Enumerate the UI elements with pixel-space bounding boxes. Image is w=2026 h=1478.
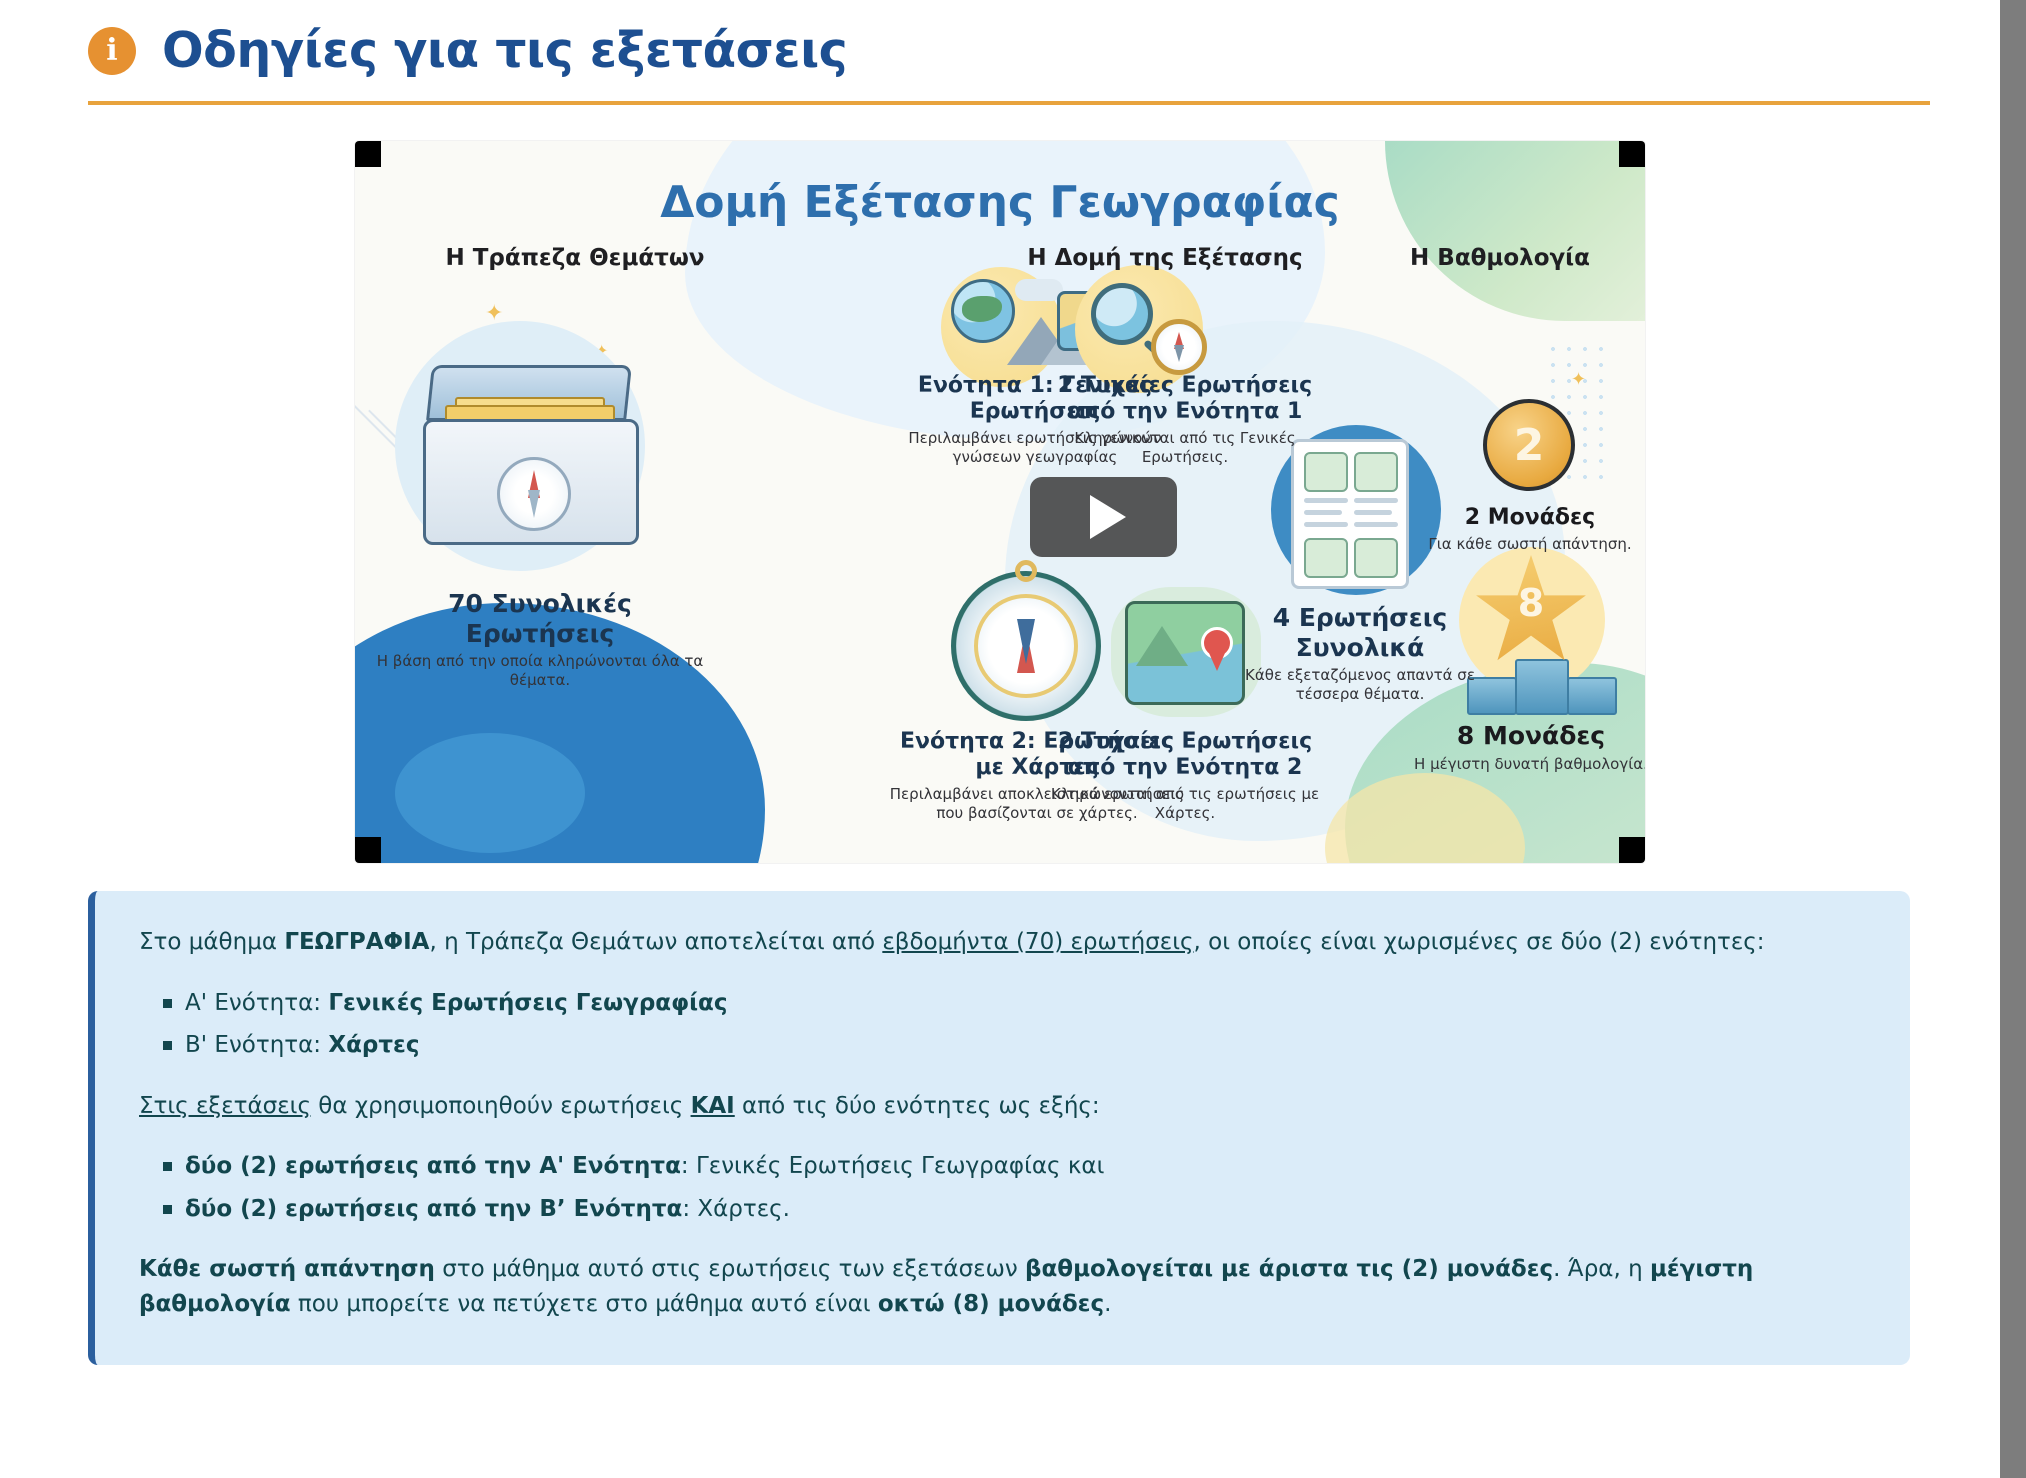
scoring-s3: βαθμολογείται με άριστα τις (2) μονάδες [1025, 1256, 1553, 1282]
decor-blob-blue-small [395, 733, 585, 853]
scrollbar-track[interactable] [2000, 0, 2026, 1478]
page-header: i Οδηγίες για τις εξετάσεις [0, 0, 2000, 93]
scoring-s2: στο μάθημα αυτό στις ερωτήσεις των εξετά… [435, 1256, 1025, 1282]
exam-item-strong: δύο (2) ερωτήσεις από την Α' Ενότητα [185, 1153, 681, 1179]
exam-item-rest: : Χάρτες. [682, 1196, 790, 1222]
cloud-icon [1015, 279, 1063, 301]
star-badge-number: 8 [1518, 581, 1544, 625]
paper-tile-map [1304, 538, 1348, 578]
paper-line [1304, 510, 1342, 515]
scoring-s6: που μπορείτε να πετύχετε στο μάθημα αυτό… [291, 1291, 878, 1317]
decor-blob-teal [1385, 141, 1645, 321]
podium-right [1567, 677, 1617, 715]
block-points-each: 2 Μονάδες Για κάθε σωστή απάντηση. [1415, 505, 1645, 554]
panel-intro-paragraph: Στο μάθημα ΓΕΩΓΡΑΦΙΑ, η Τράπεζα Θεμάτων … [139, 925, 1866, 960]
block-title: 2 Τυχαίες Ερωτήσεις από την Ενότητα 1 [1045, 373, 1325, 425]
infographic-wrapper: ✦ ✦ ✦ Δομή Εξέτασης Γεωγραφίας Η Τράπεζα… [0, 141, 2000, 863]
unit-strong: Χάρτες [328, 1032, 419, 1058]
unit-strong: Γενικές Ερωτήσεις Γεωγραφίας [328, 990, 727, 1016]
podium-icon [1467, 657, 1617, 715]
exams-link[interactable]: Στις εξετάσεις [139, 1093, 311, 1119]
video-corner-mask [355, 141, 381, 167]
block-subtitle: Η μέγιστη δυνατή βαθμολογία. [1411, 755, 1645, 774]
compass-ring [974, 594, 1078, 698]
mountain-icon [1136, 626, 1188, 666]
compass-needle-south [528, 490, 540, 518]
paper-tile-compass [1354, 452, 1398, 492]
video-corner-mask [1619, 837, 1645, 863]
coin-badge-icon: 2 [1483, 399, 1575, 491]
infographic-title: Δομή Εξέτασης Γεωγραφίας [355, 177, 1645, 228]
block-title: 2 Τυχαίες Ερωτήσεις από την Ενότητα 2 [1045, 729, 1325, 781]
list-item: δύο (2) ερωτήσεις από την Α' Ενότητα: Γε… [185, 1149, 1866, 1184]
scoring-s8: . [1104, 1291, 1111, 1317]
block-subtitle: Για κάθε σωστή απάντηση. [1415, 535, 1645, 554]
block-title: 2 Μονάδες [1415, 505, 1645, 531]
scrollbar-thumb[interactable] [2000, 0, 2026, 1478]
exams-emphasis: ΚΑΙ [691, 1093, 735, 1119]
map-pin-tip [1209, 653, 1225, 671]
exams-part1: θα χρησιμοποιηθούν ερωτήσεις [311, 1093, 691, 1119]
block-subtitle: Κληρώνονται από τις ερωτήσεις με Χάρτες. [1045, 785, 1325, 823]
panel-scoring-paragraph: Κάθε σωστή απάντηση στο μάθημα αυτό στις… [139, 1252, 1866, 1321]
scoring-s7: οκτώ (8) μονάδες [878, 1291, 1104, 1317]
compass-lug [1015, 560, 1037, 582]
column-heading-bank: Η Τράπεζα Θεμάτων [395, 245, 755, 271]
paper-line [1304, 522, 1348, 527]
exam-item-list: δύο (2) ερωτήσεις από την Α' Ενότητα: Γε… [139, 1149, 1866, 1226]
block-total-questions: 70 Συνολικές Ερωτήσεις Η βάση από την οπ… [375, 589, 705, 690]
paper-line [1354, 522, 1398, 527]
intro-part3: , οι οποίες είναι χωρισμένες σε δύο (2) … [1194, 929, 1765, 955]
intro-link[interactable]: εβδομήντα (70) ερωτήσεις [882, 929, 1193, 955]
list-item: Β' Ενότητα: Χάρτες [185, 1028, 1866, 1063]
magnifier-globe-icon [1091, 283, 1153, 345]
sparkle-icon: ✦ [1571, 369, 1586, 390]
map-pin-icon [1201, 627, 1235, 671]
block-random1: 2 Τυχαίες Ερωτήσεις από την Ενότητα 1 Κλ… [1045, 373, 1325, 466]
block-subtitle: Κληρώνονται από τις Γενικές Ερωτήσεις. [1045, 429, 1325, 467]
panel-exams-paragraph: Στις εξετάσεις θα χρησιμοποιηθούν ερωτήσ… [139, 1089, 1866, 1124]
list-item: Α' Ενότητα: Γενικές Ερωτήσεις Γεωγραφίας [185, 986, 1866, 1021]
title-divider [88, 101, 1930, 105]
page-title: Οδηγίες για τις εξετάσεις [162, 22, 847, 79]
compass-needle-south [1174, 345, 1184, 362]
block-random2: 2 Τυχαίες Ερωτήσεις από την Ενότητα 2 Κλ… [1045, 729, 1325, 822]
block-title: 8 Μονάδες [1411, 721, 1645, 751]
column-heading-structure: Η Δομή της Εξέτασης [955, 245, 1375, 271]
block-title: 70 Συνολικές Ερωτήσεις [375, 589, 705, 648]
block-subtitle: Η βάση από την οποία κληρώνονται όλα τα … [375, 652, 705, 690]
unit-prefix: Β' Ενότητα: [185, 1032, 328, 1058]
block-points-max: 8 Μονάδες Η μέγιστη δυνατή βαθμολογία. [1411, 721, 1645, 773]
infographic-video[interactable]: ✦ ✦ ✦ Δομή Εξέτασης Γεωγραφίας Η Τράπεζα… [355, 141, 1645, 863]
unit-prefix: Α' Ενότητα: [185, 990, 328, 1016]
info-icon: i [88, 27, 136, 75]
scoring-s1: Κάθε σωστή απάντηση [139, 1256, 435, 1282]
video-corner-mask [355, 837, 381, 863]
info-panel: Στο μάθημα ΓΕΩΓΡΑΦΙΑ, η Τράπεζα Θεμάτων … [88, 891, 1910, 1365]
intro-subject: ΓΕΩΓΡΑΦΙΑ [284, 929, 429, 955]
chest-compass-icon [497, 457, 571, 531]
compass-needle-south [1017, 619, 1035, 664]
video-corner-mask [1619, 141, 1645, 167]
paper-tile-landscape [1354, 538, 1398, 578]
unit-list: Α' Ενότητα: Γενικές Ερωτήσεις Γεωγραφίας… [139, 986, 1866, 1063]
video-play-button[interactable] [1030, 477, 1177, 557]
block-total-exam: 4 Ερωτήσεις Συνολικά Κάθε εξεταζόμενος α… [1235, 603, 1485, 704]
compass-icon [1151, 319, 1207, 375]
globe-icon [951, 279, 1015, 343]
intro-part1: Στο μάθημα [139, 929, 284, 955]
scoring-s4: . Άρα, η [1553, 1256, 1650, 1282]
list-item: δύο (2) ερωτήσεις από την Β’ Ενότητα: Χά… [185, 1192, 1866, 1227]
column-heading-score: Η Βαθμολογία [1365, 245, 1635, 271]
infographic-canvas: ✦ ✦ ✦ Δομή Εξέτασης Γεωγραφίας Η Τράπεζα… [355, 141, 1645, 863]
page-root: i Οδηγίες για τις εξετάσεις [0, 0, 2026, 1478]
intro-part2: , η Τράπεζα Θεμάτων αποτελείται από [429, 929, 882, 955]
exam-item-rest: : Γενικές Ερωτήσεις Γεωγραφίας και [681, 1153, 1104, 1179]
unit2-compass-icon [951, 571, 1101, 721]
block-title: 4 Ερωτήσεις Συνολικά [1235, 603, 1485, 662]
exam-item-strong: δύο (2) ερωτήσεις από την Β’ Ενότητα [185, 1196, 682, 1222]
podium-center [1515, 659, 1569, 715]
treasure-chest-icon [393, 361, 673, 551]
play-icon [1090, 495, 1126, 539]
paper-line [1304, 498, 1348, 503]
paper-line [1354, 498, 1398, 503]
exams-part2: από τις δύο ενότητες ως εξής: [735, 1093, 1100, 1119]
block-subtitle: Κάθε εξεταζόμενος απαντά σε τέσσερα θέμα… [1235, 666, 1485, 704]
info-panel-wrapper: Στο μάθημα ΓΕΩΓΡΑΦΙΑ, η Τράπεζα Θεμάτων … [0, 863, 2000, 1365]
paper-line [1354, 510, 1392, 515]
page-content: i Οδηγίες για τις εξετάσεις [0, 0, 2000, 1478]
